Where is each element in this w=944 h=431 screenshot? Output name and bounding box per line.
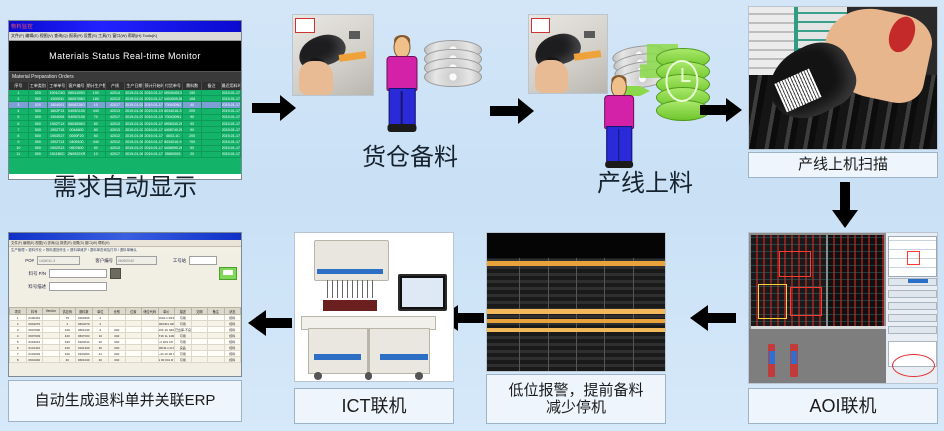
column-header[interactable]: Vendor xyxy=(43,308,60,315)
column-header[interactable]: 工单类别 xyxy=(28,82,47,90)
column-header[interactable]: 需料数 xyxy=(183,82,202,90)
column-header[interactable]: 仓别 xyxy=(109,308,126,315)
ict-test-head xyxy=(314,240,389,280)
alert-row-highlight xyxy=(487,328,665,332)
caption-line-feeding: 产线上料 xyxy=(560,166,730,202)
component-thumb xyxy=(768,344,776,377)
arrow-right-2 xyxy=(490,98,534,124)
erp-table-wrap[interactable]: 项次料号Vendor供应商退料数单位仓别位置储位代码单价描述交期备注状态 101… xyxy=(9,307,241,369)
erp-form-row-pn: 料号 P/N xyxy=(12,268,238,279)
node-return-order-erp-screen: 文件(F) 编辑(E) 视图(V) 查询(Q) 报表(R) 设置(S) 窗口(W… xyxy=(8,232,242,377)
arrow-left-1 xyxy=(690,305,736,331)
photo-handheld-scanner-1 xyxy=(292,14,374,96)
table-cell: 0601040 xyxy=(76,357,93,363)
column-header[interactable]: 料号 xyxy=(26,308,43,315)
ict-blue-stripe xyxy=(317,269,383,275)
mes-section-title: Material Preparation Orders xyxy=(9,71,241,82)
ict-caster xyxy=(415,372,423,379)
worker-torso xyxy=(604,95,634,128)
erp-header-row: 项次料号Vendor供应商退料数单位仓别位置储位代码单价描述交期备注状态 xyxy=(10,308,241,315)
alert-row-highlight xyxy=(487,309,665,314)
column-header[interactable]: 描述 xyxy=(175,308,192,315)
alert-row-highlight xyxy=(487,319,665,323)
caption-demand-display: 需求自动显示 xyxy=(8,166,242,210)
table-cell xyxy=(43,357,60,363)
scanner-scene-2 xyxy=(529,15,607,93)
column-header[interactable]: 客户编号 xyxy=(67,82,86,90)
erp-input-desc[interactable] xyxy=(49,282,107,291)
scope-scene xyxy=(487,233,665,371)
hand xyxy=(299,61,333,95)
aoi-field-row[interactable] xyxy=(888,326,937,334)
ict-monitor xyxy=(398,274,446,311)
ict-probe-pins xyxy=(323,280,377,298)
erp-label-po: PO# xyxy=(12,258,34,263)
worker-legs xyxy=(389,88,416,126)
erp-form-row-top: PO# 1404011-3 客户编号 0605G040 工号站 xyxy=(12,256,238,265)
table-cell: 2019-01-06 xyxy=(125,151,144,157)
ict-blue-stripe xyxy=(380,354,427,360)
hand xyxy=(535,60,568,93)
aoi-highlight-ellipse xyxy=(892,354,935,377)
erp-label-desc: 料号描述 xyxy=(12,284,46,290)
photo-handheld-scanner-2 xyxy=(528,14,608,94)
arrow-down-1 xyxy=(832,182,858,228)
erp-table-body[interactable]: 1010040176010040040601-1 RF1 040可用核料2060… xyxy=(10,315,241,363)
column-header[interactable]: 期计生产数 xyxy=(86,82,105,90)
table-cell: 35800001 xyxy=(163,151,182,157)
arrow-left-3 xyxy=(248,310,292,336)
worker-figure-1 xyxy=(380,36,424,132)
ict-test-board xyxy=(323,300,377,312)
column-header[interactable]: 付货单号 xyxy=(163,82,182,90)
aoi-control-panel[interactable] xyxy=(886,233,937,383)
column-header[interactable]: 供应商 xyxy=(59,308,76,315)
alert-row-highlight xyxy=(487,261,665,266)
arrow-right-1 xyxy=(252,95,296,121)
erp-label-station: 工号站 xyxy=(160,258,186,264)
worker-torso xyxy=(386,56,417,91)
mes-table-wrap[interactable]: 序号工单类别工单单号客户编号期计生产数产线生产日期预计开始时间付货单号需料数备注… xyxy=(9,82,241,174)
table-cell: 42017 xyxy=(105,151,124,157)
paper-sheet xyxy=(295,18,315,33)
defect-marker xyxy=(758,284,786,319)
table-cell xyxy=(142,357,159,363)
erp-form-row-desc: 料号描述 xyxy=(12,282,238,291)
erp-input-pn[interactable] xyxy=(49,269,107,278)
aoi-field-row[interactable] xyxy=(888,302,937,310)
table-cell: 11 xyxy=(9,151,28,157)
column-header[interactable]: 单价 xyxy=(158,308,175,315)
photo-aoi-screen xyxy=(748,232,938,384)
column-header[interactable]: 状态 xyxy=(224,308,241,315)
pcb-image-right xyxy=(828,235,884,328)
column-header[interactable]: 项次 xyxy=(10,308,27,315)
photo-low-stock-monitor xyxy=(486,232,666,372)
table-cell: 0601040 xyxy=(26,357,43,363)
table-cell: 10 xyxy=(86,151,105,157)
scope-header xyxy=(487,233,665,258)
component-thumb xyxy=(790,344,798,377)
erp-menubar[interactable]: 文件(F) 编辑(E) 视图(V) 查询(Q) 报表(R) 设置(S) 窗口(W… xyxy=(9,240,241,247)
table-cell: 040 xyxy=(109,357,126,363)
aoi-field-highlight xyxy=(908,279,928,284)
erp-input-po[interactable]: 1404011-3 xyxy=(37,256,80,265)
aoi-field-row[interactable] xyxy=(888,290,937,298)
ict-cabinet xyxy=(308,328,430,374)
erp-input-station[interactable] xyxy=(189,256,217,265)
table-cell xyxy=(191,357,208,363)
scope-col-divider xyxy=(576,258,577,371)
pcb-traces xyxy=(828,235,884,328)
scope-col-divider xyxy=(548,258,549,371)
node-demand-display-screen: 物料监控 文件(F) 编辑(E) 视图(V) 查询(Q) 报表(R) 设置(S)… xyxy=(8,20,242,180)
caption-warehouse-prep: 货仓备料 xyxy=(330,140,490,176)
table-cell: 1511B0C xyxy=(48,151,67,157)
erp-export-button[interactable] xyxy=(219,267,237,280)
column-header[interactable]: 序号 xyxy=(9,82,28,90)
paper-sheet xyxy=(531,18,550,32)
caption-ict-online: ICT联机 xyxy=(294,388,454,424)
table-cell: 2N0922XR xyxy=(67,151,86,157)
caption-low-stock-alert: 低位报警，提前备料 减少停机 xyxy=(486,374,666,424)
selected-cell-marker xyxy=(907,251,920,265)
erp-label-pn: 料号 P/N xyxy=(12,271,46,277)
disc xyxy=(424,67,482,87)
mes-window-title: 物料监控 xyxy=(9,23,33,30)
component-chip xyxy=(584,31,595,39)
column-header[interactable]: 预计开始时间 xyxy=(144,82,163,90)
table-cell: 2019-01-17 09:06 xyxy=(144,151,163,157)
column-header[interactable]: 生产日期 xyxy=(125,82,144,90)
aoi-field-row[interactable] xyxy=(888,314,937,322)
scope-col-divider xyxy=(633,258,634,371)
table-cell: 可用 xyxy=(175,357,192,363)
mes-banner-title: Materials Status Real-time Monitor xyxy=(9,41,241,71)
table-row[interactable]: 80601040400601040400401 00 041 R 4 0 010… xyxy=(10,357,241,363)
table-cell: 20 xyxy=(183,151,202,157)
mes-menubar[interactable]: 文件(F) 编辑(E) 视图(V) 查询(Q) 报表(R) 设置(S) 工具(T… xyxy=(9,32,241,41)
diagram-canvas: 物料监控 文件(F) 编辑(E) 视图(V) 查询(Q) 报表(R) 设置(S)… xyxy=(0,0,944,431)
defect-marker xyxy=(779,251,811,277)
scope-col-divider xyxy=(519,258,520,371)
table-row[interactable]: 115001511B0C2N0922XR10420172019-01-06201… xyxy=(9,151,241,157)
column-header[interactable]: 产线 xyxy=(105,82,124,90)
table-cell: 2019-01-17 11:06:14 xyxy=(221,151,240,157)
mes-table: 序号工单类别工单单号客户编号期计生产数产线生产日期预计开始时间付货单号需料数备注… xyxy=(9,82,241,158)
mes-header-row: 序号工单类别工单单号客户编号期计生产数产线生产日期预计开始时间付货单号需料数备注… xyxy=(9,82,241,90)
erp-label-customer: 客户编号 xyxy=(83,258,113,264)
column-header[interactable]: 退料数 xyxy=(76,308,93,315)
caption-return-order-erp: 自动生成退料单并关联ERP xyxy=(8,380,242,422)
table-cell: 核料 xyxy=(224,357,241,363)
column-header[interactable]: 位置 xyxy=(125,308,142,315)
worker-figure-2 xyxy=(598,76,640,168)
column-header[interactable]: 单位 xyxy=(92,308,109,315)
column-header[interactable]: 储位代码 xyxy=(142,308,159,315)
erp-input-customer[interactable]: 0605G040 xyxy=(116,256,157,265)
arrow-right-3 xyxy=(700,98,742,122)
photo-line-scan xyxy=(748,6,938,150)
scanner-scene-1 xyxy=(293,15,373,95)
table-cell: 8 xyxy=(10,357,27,363)
table-cell: 1 00 041 R 4 0 0101 040 041 041 xyxy=(158,357,175,363)
mes-table-body[interactable]: 15201901C3G0604109G190420142019-01-02201… xyxy=(9,90,241,158)
ict-caster xyxy=(314,372,322,379)
ict-scene xyxy=(295,233,453,381)
ict-blue-stripe xyxy=(314,354,361,360)
disc-stack-1 xyxy=(424,40,480,94)
table-cell xyxy=(125,357,142,363)
table-cell: 500 xyxy=(28,151,47,157)
photo-ict-machine xyxy=(294,232,454,382)
erp-titlebar xyxy=(9,233,241,240)
erp-form[interactable]: PO# 1404011-3 客户编号 0605G040 工号站 料号 P/N 料… xyxy=(9,253,241,307)
table-cell xyxy=(202,151,221,157)
line-scan-scene xyxy=(749,7,937,149)
column-header[interactable]: 工单单号 xyxy=(48,82,67,90)
column-header[interactable]: 备注 xyxy=(202,82,221,90)
erp-lookup-button[interactable] xyxy=(110,268,121,279)
component-chip xyxy=(349,31,360,39)
caption-line-scan: 产线上机扫描 xyxy=(748,152,938,178)
defect-marker xyxy=(790,287,822,316)
worker-legs xyxy=(606,126,632,163)
column-header[interactable]: 交期 xyxy=(191,308,208,315)
erp-table: 项次料号Vendor供应商退料数单位仓别位置储位代码单价描述交期备注状态 101… xyxy=(9,307,241,363)
scope-col-divider xyxy=(604,258,605,371)
table-cell: 40 xyxy=(92,357,109,363)
caption-aoi-online: AOI联机 xyxy=(748,388,938,424)
worker-shoes xyxy=(387,124,416,132)
column-header[interactable]: 备注 xyxy=(208,308,225,315)
ict-caster xyxy=(365,372,373,379)
table-cell: 40 xyxy=(59,357,76,363)
mes-titlebar: 物料监控 xyxy=(9,21,241,32)
table-cell xyxy=(208,357,225,363)
aoi-scene xyxy=(749,233,937,383)
column-header[interactable]: 最迟用料时间 xyxy=(221,82,240,90)
